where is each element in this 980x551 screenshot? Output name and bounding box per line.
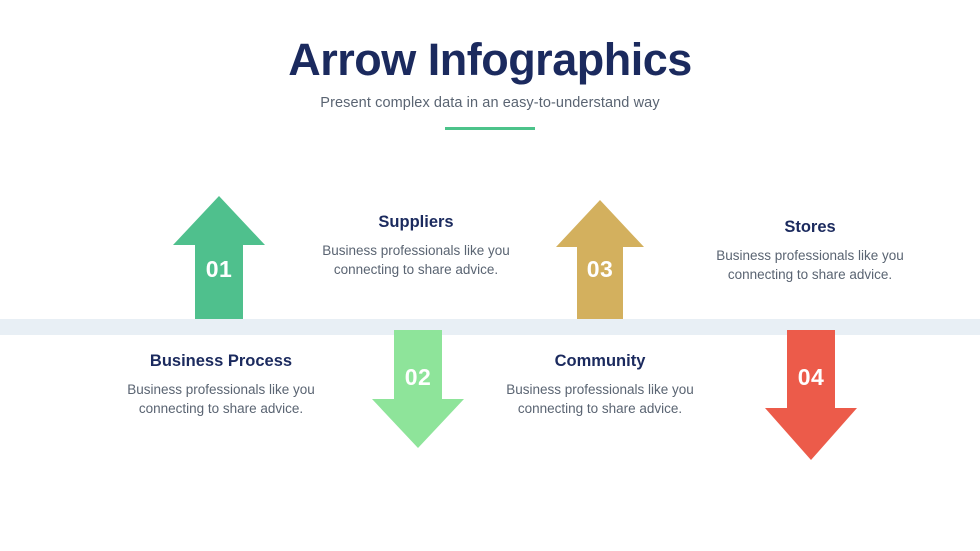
arrow-down-04[interactable]: 04 — [765, 330, 857, 460]
slide-header: Arrow Infographics Present complex data … — [0, 36, 980, 130]
block-body-01: Business professionals like you connecti… — [121, 380, 321, 418]
block-title-01: Business Process — [121, 352, 321, 371]
block-title-02: Suppliers — [316, 213, 516, 232]
infographic-slide: Arrow Infographics Present complex data … — [0, 0, 980, 551]
arrow-number-03: 03 — [556, 256, 644, 283]
page-subtitle: Present complex data in an easy-to-under… — [0, 95, 980, 111]
text-block-02: Suppliers Business professionals like yo… — [316, 213, 516, 279]
arrow-down-02[interactable]: 02 — [372, 330, 464, 448]
text-block-03: Community Business professionals like yo… — [500, 352, 700, 418]
arrow-number-04: 04 — [765, 364, 857, 391]
text-block-04: Stores Business professionals like you c… — [710, 218, 910, 284]
block-body-02: Business professionals like you connecti… — [316, 241, 516, 279]
title-underline-rule — [445, 127, 535, 130]
block-body-04: Business professionals like you connecti… — [710, 246, 910, 284]
arrow-number-01: 01 — [173, 256, 265, 283]
block-body-03: Business professionals like you connecti… — [500, 380, 700, 418]
block-title-03: Community — [500, 352, 700, 371]
block-title-04: Stores — [710, 218, 910, 237]
arrow-up-03[interactable]: 03 — [556, 200, 644, 319]
text-block-01: Business Process Business professionals … — [121, 352, 321, 418]
page-title: Arrow Infographics — [0, 36, 980, 83]
arrow-number-02: 02 — [372, 364, 464, 391]
arrow-up-01[interactable]: 01 — [173, 196, 265, 319]
